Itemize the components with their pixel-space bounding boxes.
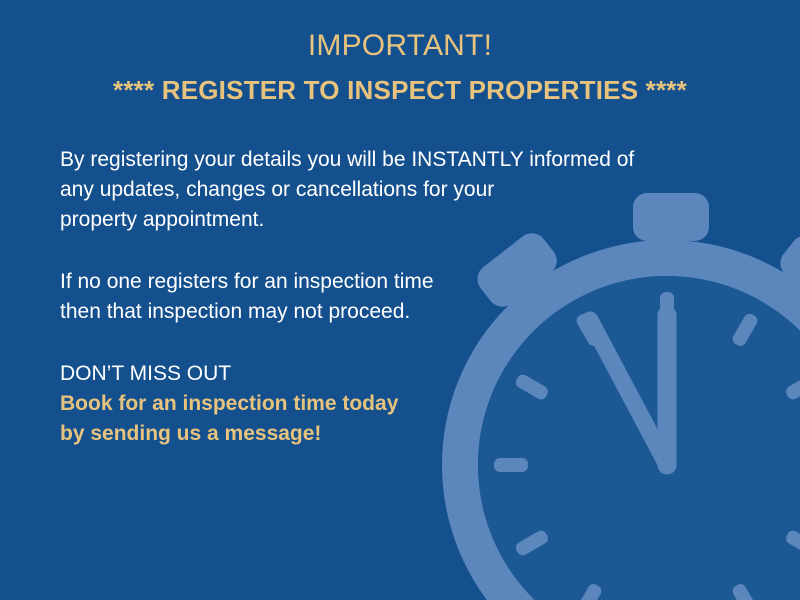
cta-dont-miss-out: DON’T MISS OUT xyxy=(60,362,231,385)
cta-send-message: by sending us a message! xyxy=(60,422,321,445)
paragraph-no-registration-line-1: If no one registers for an inspection ti… xyxy=(60,270,434,293)
paragraph-registering-line-2: any updates, changes or cancellations fo… xyxy=(60,178,494,201)
headline-block: IMPORTANT! **** REGISTER TO INSPECT PROP… xyxy=(0,28,800,107)
paragraph-registering-line-3: property appointment. xyxy=(60,208,264,231)
headline-important: IMPORTANT! xyxy=(0,28,800,64)
paragraph-no-registration-line-2: then that inspection may not proceed. xyxy=(60,300,410,323)
slide-content: IMPORTANT! **** REGISTER TO INSPECT PROP… xyxy=(0,0,800,600)
paragraph-registering: By registering your details you will be … xyxy=(60,145,720,235)
slide-canvas: IMPORTANT! **** REGISTER TO INSPECT PROP… xyxy=(0,0,800,600)
cta-book-inspection: Book for an inspection time today xyxy=(60,392,398,415)
call-to-action-block: DON’T MISS OUT Book for an inspection ti… xyxy=(60,359,720,449)
body-block: By registering your details you will be … xyxy=(60,145,720,449)
paragraph-no-registration: If no one registers for an inspection ti… xyxy=(60,267,720,327)
headline-register: **** REGISTER TO INSPECT PROPERTIES **** xyxy=(0,73,800,107)
paragraph-registering-line-1: By registering your details you will be … xyxy=(60,148,634,171)
